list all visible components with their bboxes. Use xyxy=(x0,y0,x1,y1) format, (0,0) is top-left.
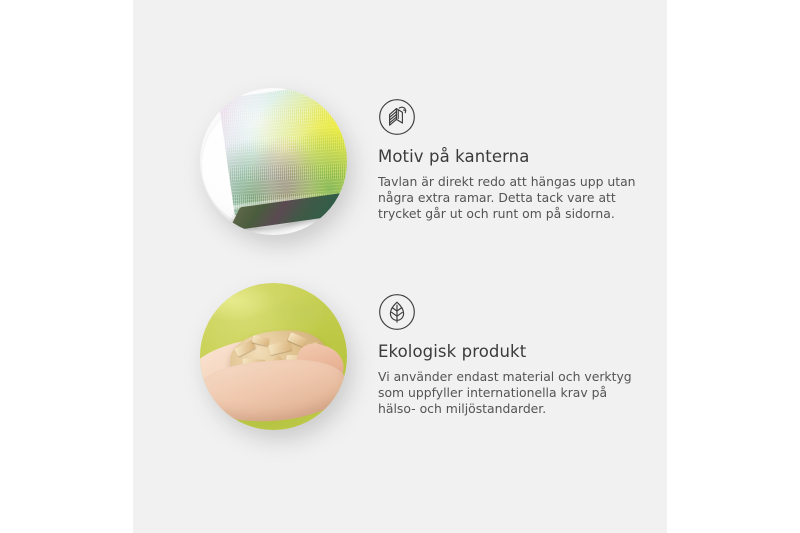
canvas-corner-photo xyxy=(200,88,347,235)
canvas-wrapped-edge-icon xyxy=(378,98,416,136)
feature-text-column: Ekologisk produkt Vi använder endast mat… xyxy=(378,277,648,418)
feature-title: Motiv på kanterna xyxy=(378,148,648,167)
leaf-icon xyxy=(378,293,416,331)
feature-block-ecological: Ekologisk produkt Vi använder endast mat… xyxy=(190,277,648,437)
canvas-block xyxy=(218,88,347,216)
canvas-corner-photo-wrapper xyxy=(190,82,350,242)
feature-block-canvas-edges: Motiv på kanterna Tavlan är direkt redo … xyxy=(190,82,648,242)
content-panel xyxy=(133,0,667,533)
feature-description: Vi använder endast material och verktyg … xyxy=(378,369,640,418)
feature-title: Ekologisk produkt xyxy=(378,343,648,362)
wood-chips-hands-photo xyxy=(200,283,347,430)
wood-chips-photo-wrapper xyxy=(190,277,350,437)
feature-description: Tavlan är direkt redo att hängas upp uta… xyxy=(378,174,640,223)
feature-text-column: Motiv på kanterna Tavlan är direkt redo … xyxy=(378,82,648,223)
product-feature-banner: Motiv på kanterna Tavlan är direkt redo … xyxy=(0,0,800,533)
